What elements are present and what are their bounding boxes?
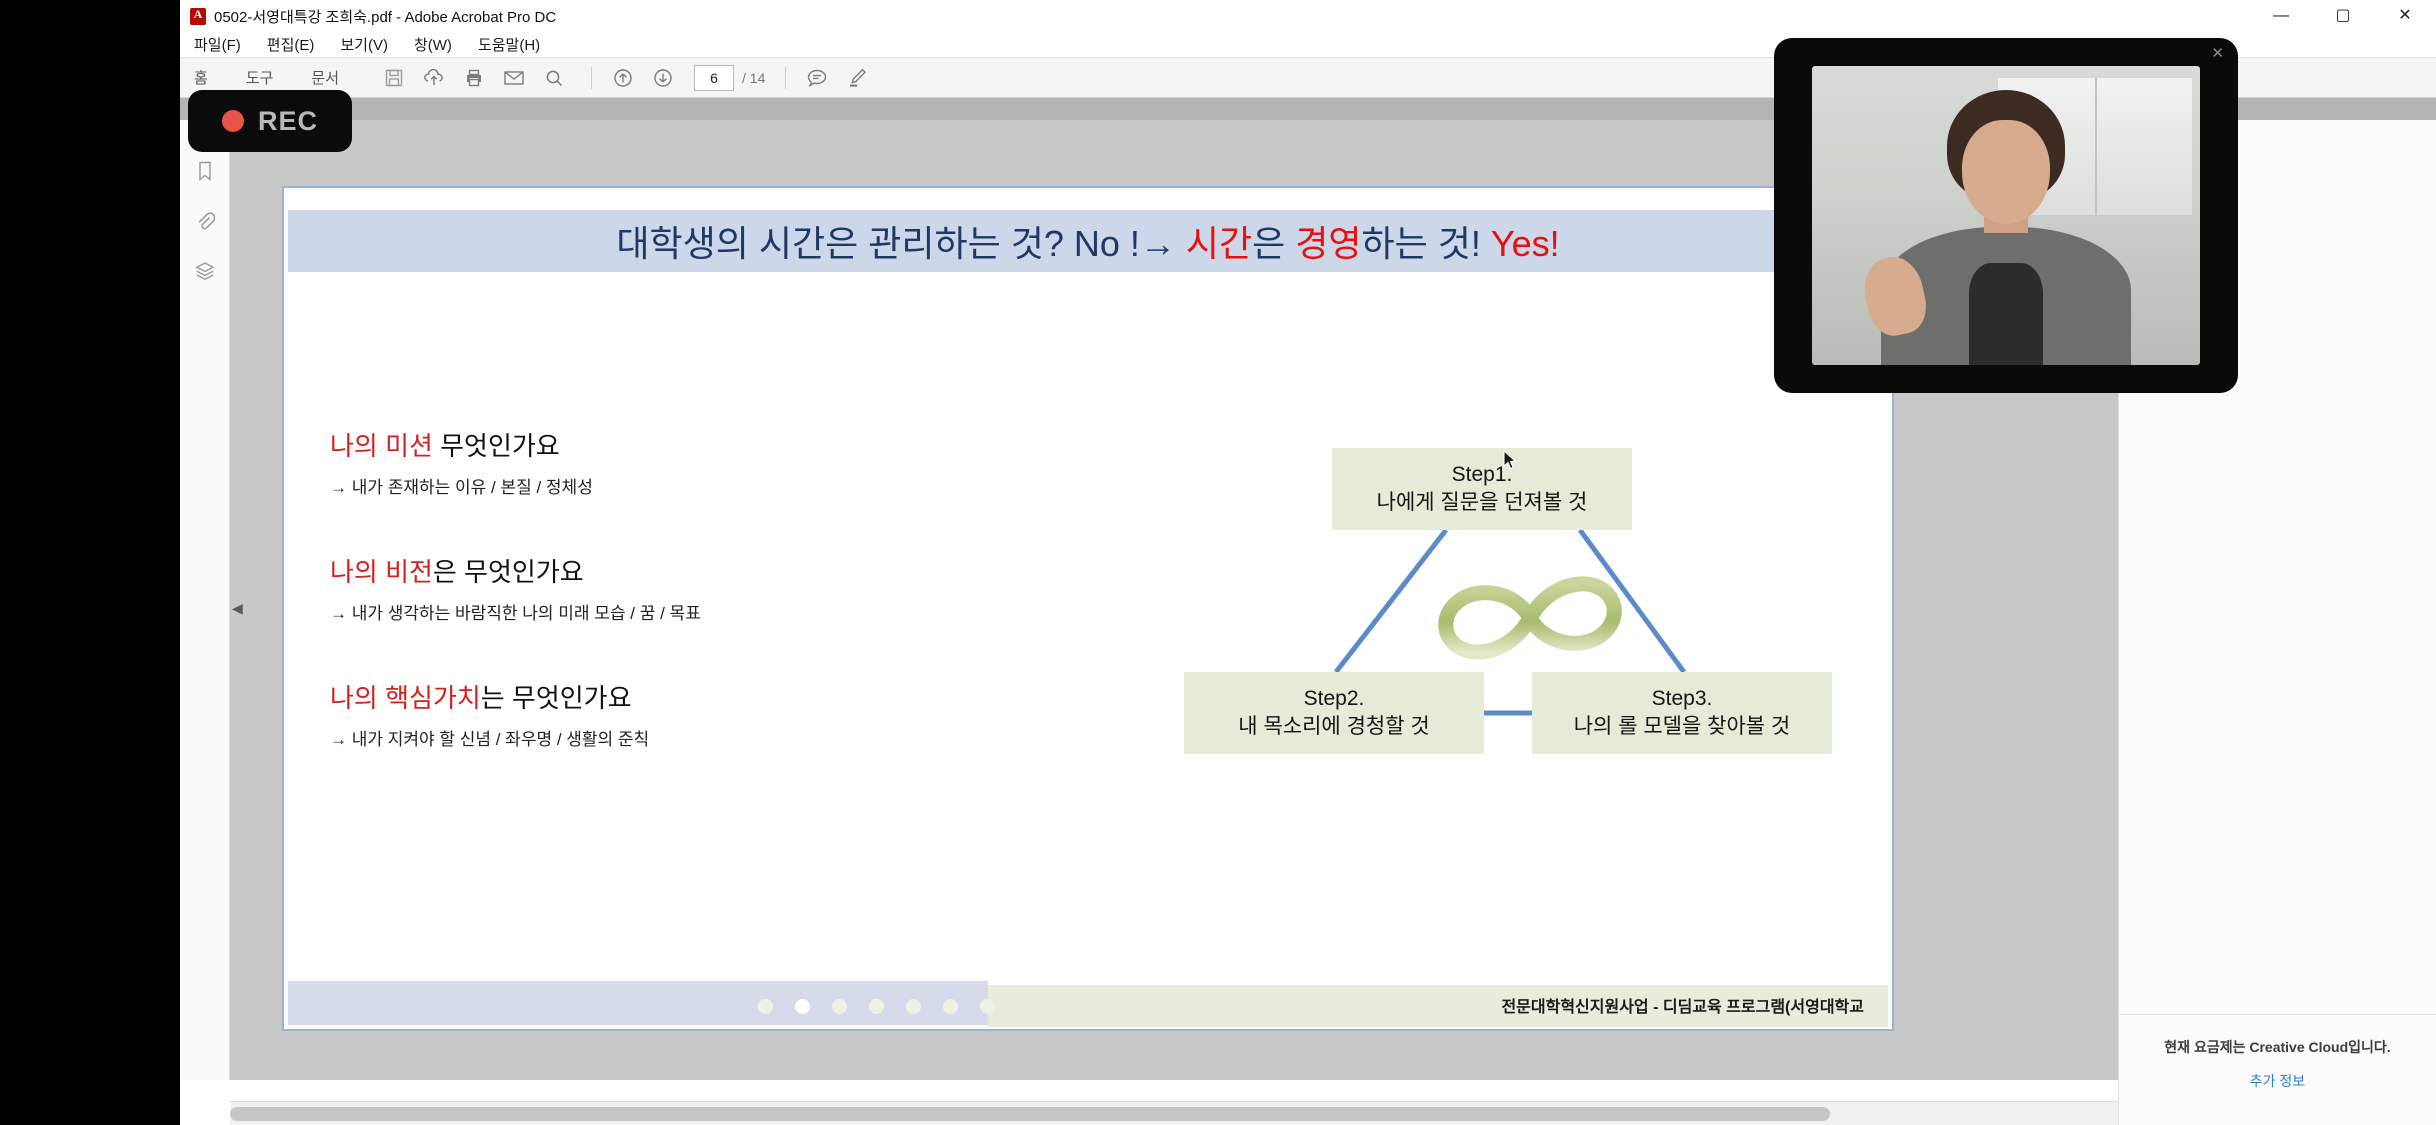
footer-dot [869,999,884,1014]
cloud-upload-icon[interactable] [417,63,451,93]
layers-icon[interactable] [188,246,222,296]
page-total-label: / 14 [742,70,765,86]
step2-box: Step2. 내 목소리에 경청할 것 [1184,672,1484,754]
panel-collapse-left-icon[interactable]: ◀ [232,600,243,617]
bullet-sub-1: → 내가 존재하는 이유 / 본질 / 정체성 [330,473,1090,498]
screen-root: 0502-서영대특강 조희숙.pdf - Adobe Acrobat Pro D… [0,0,2436,1125]
step2-desc: 내 목소리에 경청할 것 [1238,713,1429,741]
footer-dot [943,999,958,1014]
tab-home[interactable]: 홈 [194,67,208,88]
step1-box: Step1. 나에게 질문을 던져볼 것 [1332,448,1632,530]
bullet-1-rest: 무엇인가요 [433,431,560,461]
step1-desc: 나에게 질문을 던져볼 것 [1377,489,1588,517]
slide-title-text: 대학생의 시간은 관리하는 것? No !→ 시간은 경영하는 것! Yes! [616,215,1559,267]
horizontal-scrollbar-thumb[interactable] [230,1107,1830,1121]
more-info-link[interactable]: 추가 정보 [2119,1071,2436,1091]
bullet-sub-3: → 내가 지켜야 할 신념 / 좌우명 / 생활의 준칙 [330,725,1090,750]
email-icon[interactable] [497,63,531,93]
footer-dot-active [795,999,810,1014]
attachment-icon[interactable] [188,196,222,246]
window-title: 0502-서영대특강 조희숙.pdf - Adobe Acrobat Pro D… [214,6,556,27]
slide-footer: 전문대학혁신지원사업 - 디딤교육 프로그램(서영대학교 [288,985,1888,1025]
tab-document[interactable]: 문서 [311,67,339,88]
maximize-button[interactable]: ▢ [2312,0,2374,32]
plan-info-footer: 현재 요금제는 Creative Cloud입니다. 추가 정보 [2119,1014,2436,1091]
horizontal-scrollbar[interactable]: ▾ [230,1101,2436,1125]
bookmark-icon[interactable] [188,146,222,196]
slide-footer-text: 전문대학혁신지원사업 - 디딤교육 프로그램(서영대학교 [1501,993,1864,1017]
previous-page-icon[interactable] [606,63,640,93]
slide-footer-dots [758,999,995,1014]
close-button[interactable]: ✕ [2374,0,2436,32]
recording-badge: REC [188,90,352,152]
footer-dot [906,999,921,1014]
menu-file[interactable]: 파일(F) [194,34,241,55]
bullet-sub-2: → 내가 생각하는 바람직한 나의 미래 모습 / 꿈 / 목표 [330,599,1090,624]
title-seg-1: 대학생의 시간은 관리하는 것? No !→ [616,223,1186,264]
bullet-heading-2: 나의 비전은 무엇인가요 [330,552,1090,589]
menu-window[interactable]: 창(W) [414,34,452,55]
menu-help[interactable]: 도움말(H) [478,34,540,55]
menu-edit[interactable]: 편집(E) [267,34,315,55]
webcam-person-shirt [1969,263,2043,365]
bullet-2-highlight: 나의 비전 [330,557,433,587]
footer-dot [758,999,773,1014]
left-navigation-rail [180,120,230,1080]
title-seg-red-1: 시간 [1186,223,1252,264]
title-seg-red-3: Yes! [1491,223,1560,264]
bullet-2-rest: 은 무엇인가요 [433,557,584,587]
webcam-person-face [1962,120,2050,224]
highlighter-icon[interactable] [840,63,874,93]
steps-diagram: Step1. 나에게 질문을 던져볼 것 Step2. 내 목소리에 경청할 것… [1184,448,1864,788]
save-icon[interactable] [377,63,411,93]
bullet-heading-1: 나의 미션 무엇인가요 [330,426,1090,463]
webcam-video [1812,66,2200,365]
infinity-ribbon-icon [1436,576,1624,660]
record-dot-icon [222,110,244,132]
acrobat-logo-icon [190,8,206,25]
bullet-list: 나의 미션 무엇인가요 → 내가 존재하는 이유 / 본질 / 정체성 나의 비… [330,426,1090,804]
print-icon[interactable] [457,63,491,93]
menu-view[interactable]: 보기(V) [340,34,388,55]
slide-title-banner: 대학생의 시간은 관리하는 것? No !→ 시간은 경영하는 것! Yes! [288,210,1888,272]
bullet-3-highlight: 나의 핵심가치 [330,683,481,713]
step3-desc: 나의 롤 모델을 찾아볼 것 [1574,713,1791,741]
title-seg-2: 은 [1252,223,1295,264]
step3-title: Step3. [1652,685,1713,713]
title-bar: 0502-서영대특강 조희숙.pdf - Adobe Acrobat Pro D… [180,0,2436,32]
bullet-3-rest: 는 무엇인가요 [481,683,632,713]
page-number-input[interactable]: 6 [694,65,734,91]
toolbar-divider-2 [785,67,786,89]
search-icon[interactable] [537,63,571,93]
title-seg-red-2: 경영 [1295,223,1361,264]
webcam-overlay[interactable]: ✕ [1774,38,2238,393]
footer-dot [832,999,847,1014]
comment-icon[interactable] [800,63,834,93]
toolbar-divider [591,67,592,89]
plan-label: 현재 요금제는 Creative Cloud입니다. [2119,1037,2436,1057]
mouse-cursor [1503,450,1517,470]
footer-dot [980,999,995,1014]
webcam-close-icon[interactable]: ✕ [2211,44,2224,62]
record-label: REC [258,106,318,137]
next-page-icon[interactable] [646,63,680,93]
tab-tools[interactable]: 도구 [246,67,274,88]
minimize-button[interactable]: — [2250,0,2312,32]
step3-box: Step3. 나의 롤 모델을 찾아볼 것 [1532,672,1832,754]
pdf-page: 대학생의 시간은 관리하는 것? No !→ 시간은 경영하는 것! Yes! … [282,186,1894,1031]
bullet-heading-3: 나의 핵심가치는 무엇인가요 [330,678,1090,715]
title-seg-3: 하는 것! [1362,223,1491,264]
window-controls: — ▢ ✕ [2250,0,2436,32]
bullet-1-highlight: 나의 미션 [330,431,433,461]
step2-title: Step2. [1304,685,1365,713]
